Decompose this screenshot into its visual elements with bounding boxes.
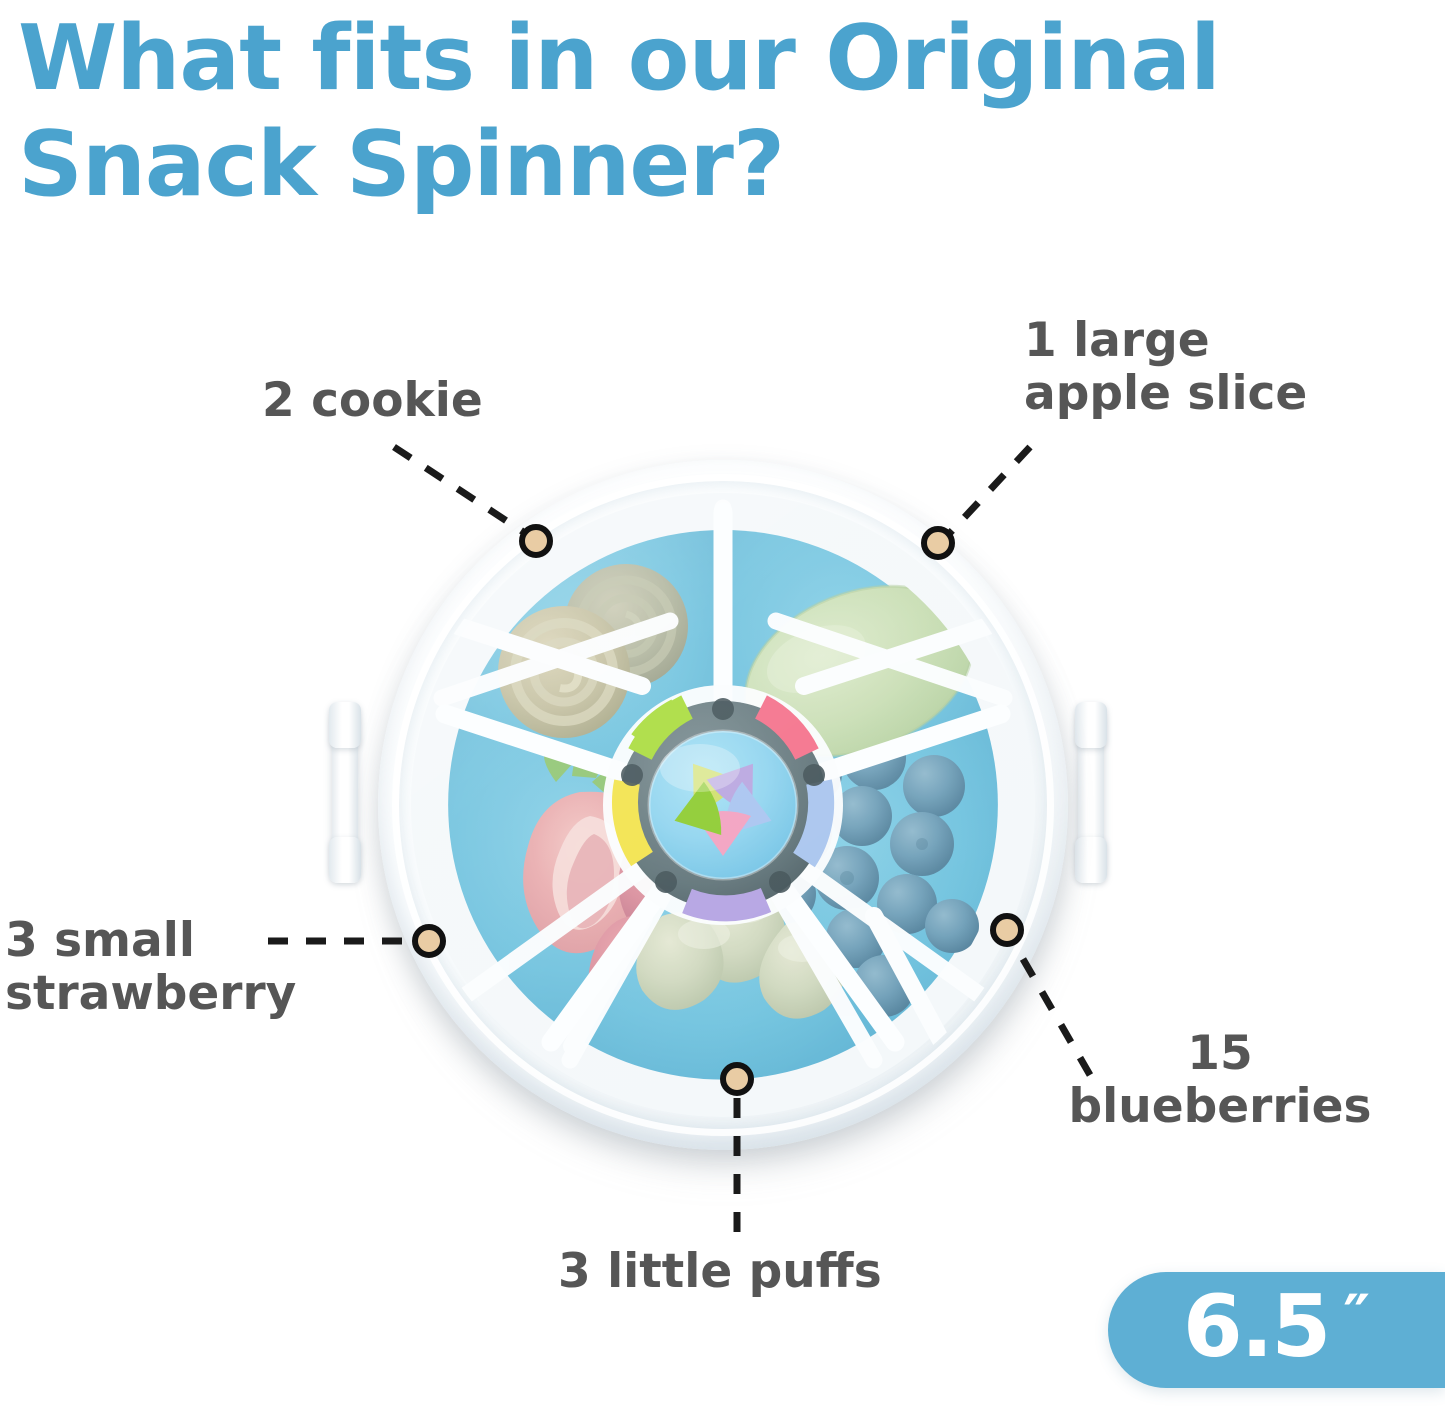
callout-label-blueberries: 15 blueberries [1030,1028,1410,1133]
callout-label-puffs: 3 little puffs [558,1246,882,1299]
hinge-clasp-left [332,710,358,875]
callout-label-cookie: 2 cookie [262,375,483,428]
size-badge-unit: ″ [1343,1287,1370,1373]
size-badge-value: 6.5 [1183,1284,1329,1376]
lid-sheen [411,493,1035,1117]
size-badge: 6.5 ″ [1108,1272,1445,1388]
callout-label-strawberry: 3 small strawberry [5,915,296,1020]
hinge-clasp-right [1078,710,1104,875]
page-title: What fits in our Original Snack Spinner? [18,6,1438,218]
snack-spinner-product-image [330,432,1110,1212]
callout-label-apple: 1 large apple slice [1024,315,1307,420]
page-title-line-2: Snack Spinner? [18,112,1438,218]
page-title-line-1: What fits in our Original [18,6,1438,112]
compartment-disc [404,486,1042,1124]
